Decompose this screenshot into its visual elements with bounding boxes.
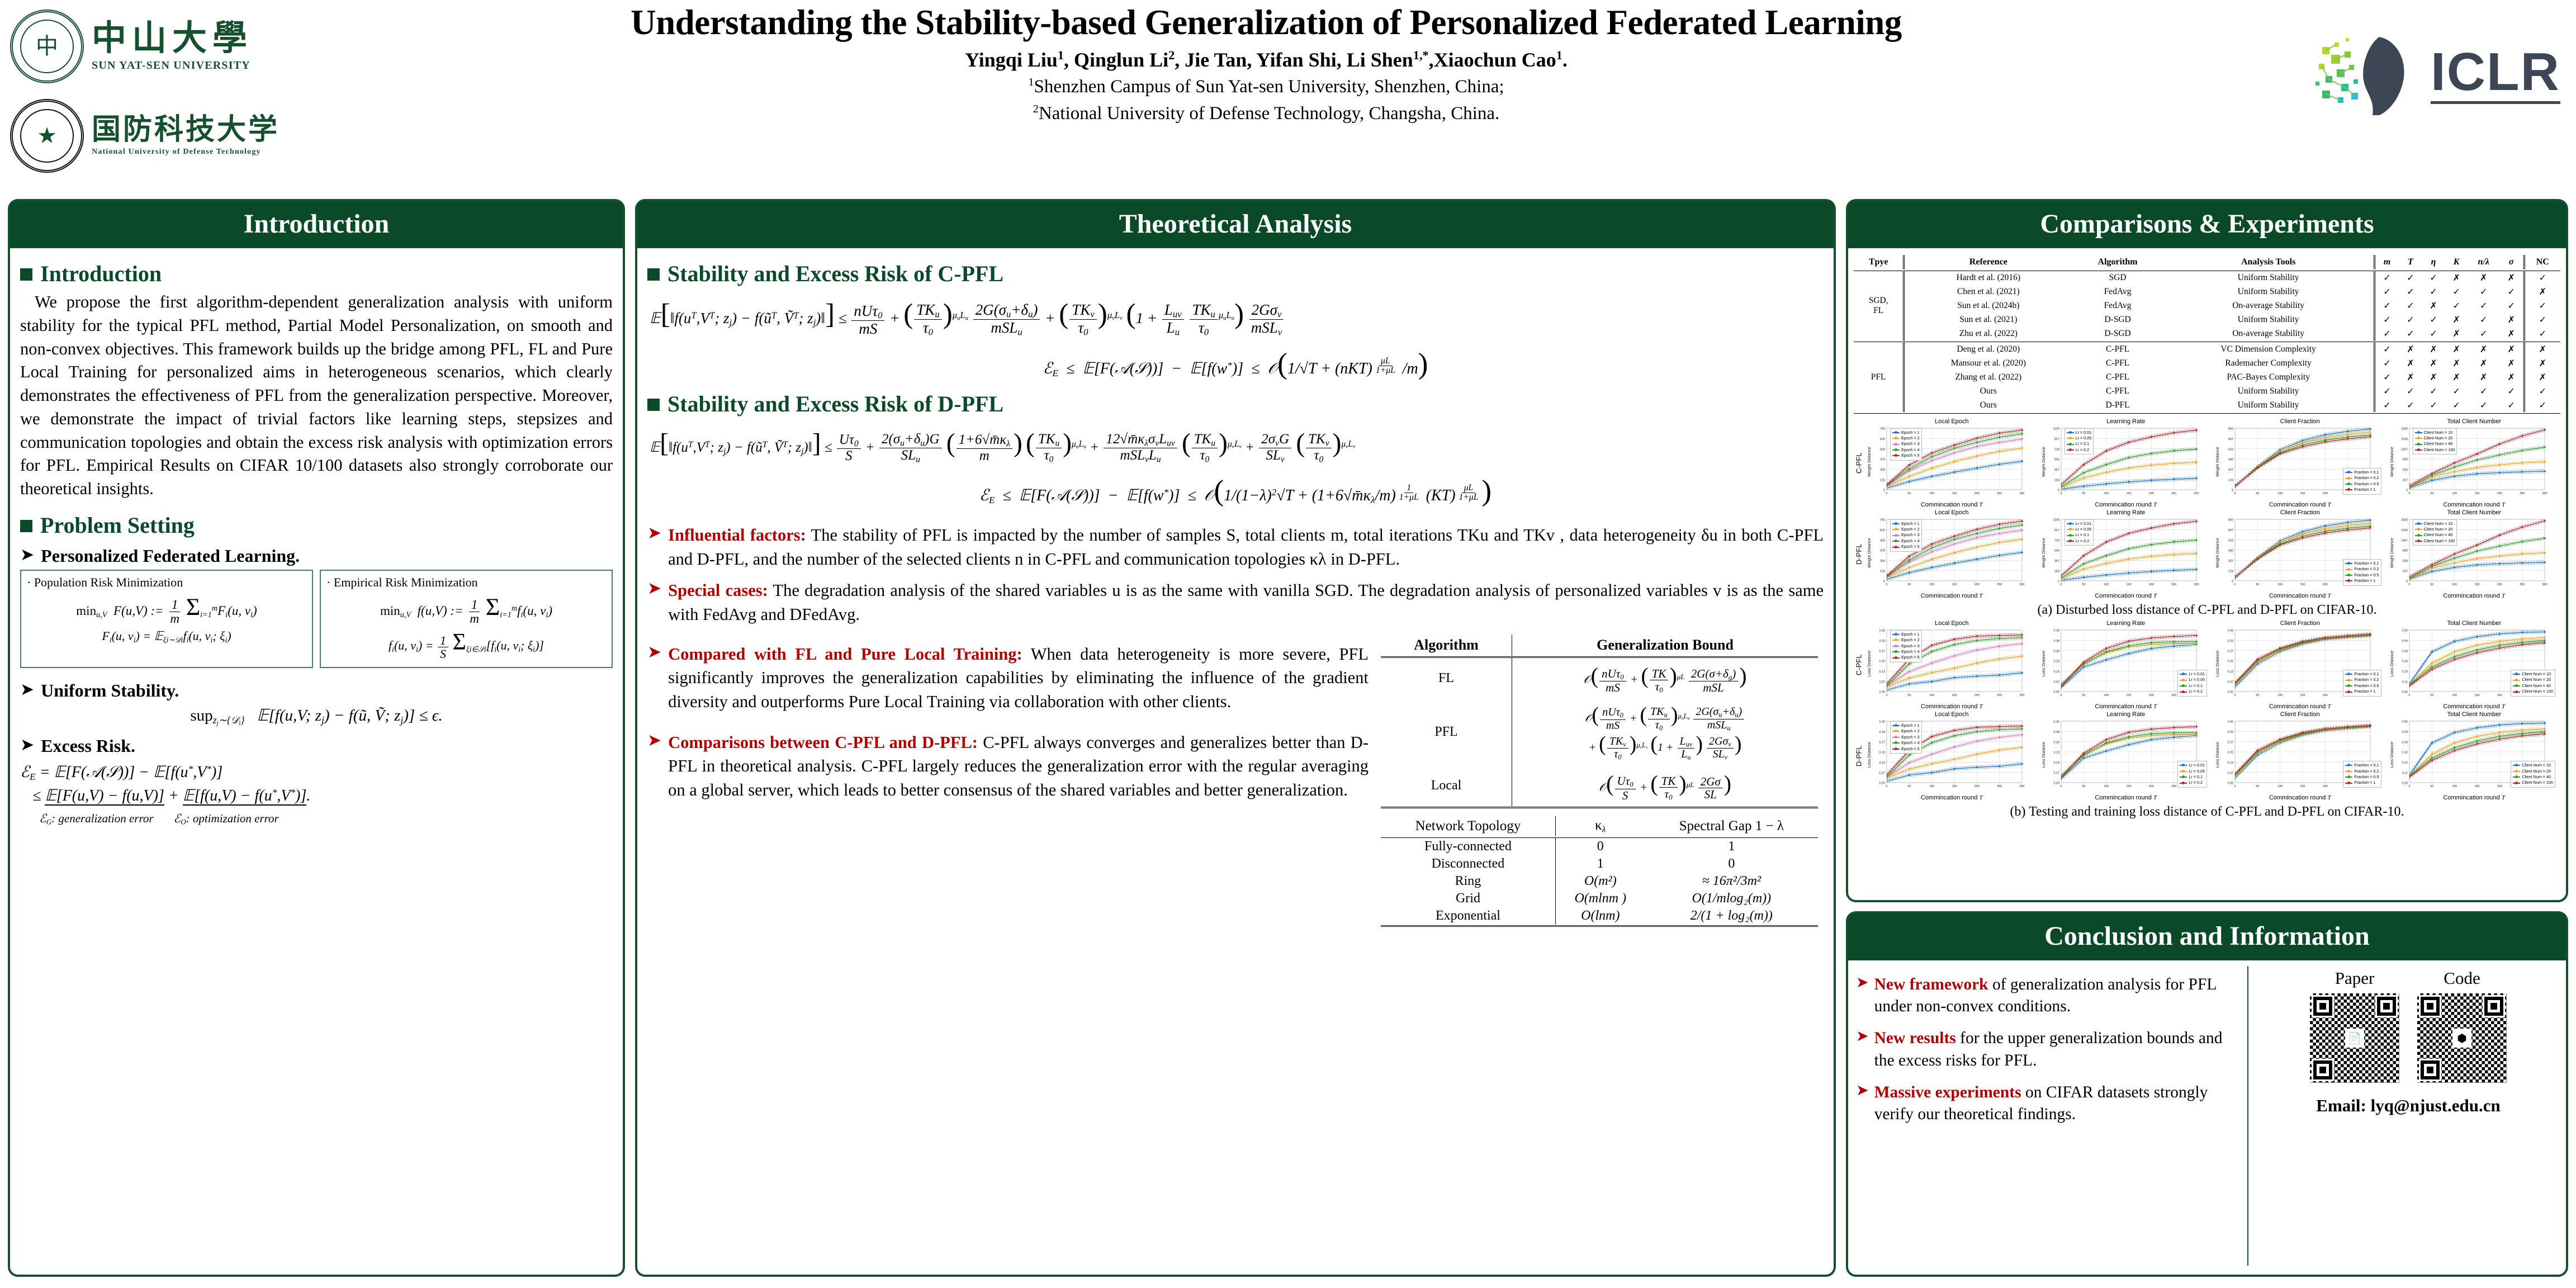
cell-mark-T: ✗ [2399,356,2422,370]
theory-lower-tables: Algorithm Generalization Bound FL 𝒪(nUτ0… [1381,634,1818,927]
svg-text:1600: 1600 [2401,518,2408,522]
legend-label: Fraction = 0.2 [2354,677,2379,683]
svg-text:Loss Distance: Loss Distance [2215,742,2220,768]
introduction-column-body: Introduction We propose the first algori… [10,248,623,834]
legend-item: Client Num = 10 [2415,521,2455,527]
cell-mark-n: ✗ [2468,356,2499,370]
legend-label: Fraction = 0.1 [2354,763,2379,768]
svg-text:0.33: 0.33 [1879,731,1886,734]
svg-text:0.40: 0.40 [2228,629,2234,632]
legend-label: Epoch = 2 [1901,728,1920,734]
svg-text:100: 100 [2104,583,2109,586]
legend-swatch [2180,776,2187,778]
legend-swatch [2180,692,2187,693]
svg-text:200: 200 [1974,785,1980,788]
logo-nudt: ★ 国防科技大学 National University of Defense … [10,94,345,178]
svg-text:0.15: 0.15 [2053,670,2059,674]
svg-text:200: 200 [2497,694,2502,697]
cell-algorithm-pfl: PFL [1381,698,1512,766]
svg-text:0.13: 0.13 [2228,670,2234,674]
svg-text:250: 250 [2520,492,2525,495]
th-K: K [2445,255,2468,269]
legend-item: Fraction = 0.2 [2345,769,2379,774]
section-dpfl-title: Stability and Excess Risk of D-PFL [667,392,1003,416]
plot-title: Learning Rate [2040,509,2213,516]
table-row: Fully-connected 0 1 [1381,837,1818,855]
theory-column-title: Theoretical Analysis [637,201,1834,248]
figure-b-plots-cpfl: Local Epoch0.000.070.130.200.270.330.400… [1865,620,2560,710]
cell-tools: Uniform Stability [2163,285,2374,299]
arrow-bullet-icon: ➤ [647,642,661,714]
svg-text:50: 50 [1907,583,1911,586]
legend-label: Client Num = 20 [2522,769,2551,774]
legend-swatch [1892,541,1900,542]
legend-label: Epoch = 5 [1901,453,1920,458]
poster-root: 中 中山大學 SUN YAT-SEN UNIVERSITY ★ 国防科技大学 N… [0,0,2576,1288]
cell-mark-sigma: ✗ [2499,271,2524,285]
legend-swatch [1892,731,1900,732]
plot-xlabel: Commincation round T [2388,593,2561,599]
legend-swatch [1892,444,1900,445]
legend-item: Fraction = 0.2 [2345,475,2379,481]
plot-learning-rate: Learning Rate018336755073391711000501001… [2040,418,2213,508]
cell-mark-eta: ✓ [2422,327,2445,341]
theory-lower-bullets: ➤ Compared with FL and Pure Local Traini… [647,634,1368,927]
legend-item: Epoch = 3 [1892,441,1920,447]
svg-text:267: 267 [2403,570,2408,573]
legend-item: Fraction = 0.2 [2345,677,2379,683]
svg-text:150: 150 [1952,785,1957,788]
svg-text:0.38: 0.38 [2053,731,2059,734]
legend-label: Fraction = 1 [2354,689,2375,694]
cell-mark-m: ✓ [2374,356,2399,370]
subsection-excess-risk: ➤ Excess Risk. [20,736,613,756]
cell-mark-sigma: ✗ [2499,370,2524,384]
nudt-seal-glyph: ★ [37,125,57,147]
plot-learning-rate: Learning Rate0.000.070.150.230.300.380.4… [2040,711,2213,801]
cell-bound-local: 𝒪(Uτ0S + (TKτ0)μL 2GσSL) [1512,766,1818,806]
legend-item: Fraction = 0.1 [2345,763,2379,768]
legend-label: Epoch = 1 [1901,430,1920,435]
bullet-compared-fl-local: ➤ Compared with FL and Pure Local Traini… [647,642,1368,714]
svg-text:917: 917 [2054,438,2059,441]
bullet-cpfl-vs-dpfl-text: Comparisons between C-PFL and D-PFL: C-P… [668,731,1368,802]
cell-mark-T: ✗ [2399,370,2422,384]
svg-text:Weight Distance: Weight Distance [2041,538,2046,568]
arrow-bullet-icon: ➤ [1856,1027,1869,1071]
plot-legend: Fraction = 0.1Fraction = 0.2Fraction = 0… [2343,559,2381,586]
th-analysis-tools: Analysis Tools [2163,255,2374,269]
svg-text:0.33: 0.33 [1879,640,1886,643]
figure-b-row-dpfl: D-PFL Local Epoch0.000.070.130.200.270.3… [1854,711,2560,801]
qr-code-code-icon[interactable]: ⬢ [2416,992,2508,1085]
legend-swatch [2345,472,2352,473]
svg-text:0: 0 [2060,492,2062,495]
cell-algorithm: D-PFL [2072,398,2163,412]
cell-mark-m: ✓ [2374,370,2399,384]
uniform-stability-formula: supzj∼{𝒟i} 𝔼[f(u,V; zj) − f(ũ, Ṽ; zj)] ≤… [20,705,613,727]
svg-text:0.40: 0.40 [2228,720,2234,723]
th-eta: η [2422,255,2445,269]
conclusion-bullet-2: ➤ New results for the upper generalizati… [1856,1027,2242,1071]
legend-item: Fraction = 1 [2345,487,2379,493]
svg-text:0.13: 0.13 [1879,761,1886,765]
title-block: Understanding the Stability-based Genera… [347,3,2186,126]
legend-label: Lr = 0.1 [2189,774,2203,780]
svg-text:750: 750 [1880,427,1885,430]
legend-label: Client Num = 100 [2424,447,2455,453]
cell-mark-sigma: ✓ [2499,299,2524,313]
svg-text:150: 150 [1952,694,1957,697]
cell-mark-sigma: ✗ [2499,356,2524,370]
svg-text:200: 200 [2149,583,2154,586]
svg-text:0.23: 0.23 [2053,660,2059,663]
cell-algorithm: C-PFL [2072,370,2163,384]
svg-text:250: 250 [1997,785,2002,788]
svg-text:250: 250 [1880,560,1885,563]
cell-topology-name: Grid [1381,890,1555,907]
iclr-logo: ICLR [2312,32,2560,116]
th-network-topology: Network Topology [1381,816,1555,836]
cell-reference: Mansour et al. (2020) [1904,356,2072,370]
svg-text:0.38: 0.38 [2053,640,2059,643]
figure-b-rowlabel-cpfl: C-PFL [1854,620,1864,710]
legend-label: Epoch = 2 [1901,435,1920,441]
legend-item: Epoch = 5 [1892,544,1920,550]
cell-mark-eta: ✓ [2422,285,2445,299]
table-row: FL 𝒪(nUτ0mS + (TKτ0)μL 2G(σ+δg)mSL) [1381,657,1818,698]
legend-label: Client Num = 100 [2522,689,2553,694]
cell-algorithm: C-PFL [2072,356,2163,370]
svg-text:125: 125 [1880,479,1885,482]
legend-item: Epoch = 2 [1892,527,1920,532]
experiments-column-header: Comparisons & Experiments [1848,201,2566,248]
arrow-bullet-icon: ➤ [647,523,661,571]
legend-swatch [2180,674,2187,675]
cell-reference: Sun et al. (2021) [1904,313,2072,327]
th-algorithm: Algorithm [1381,634,1512,656]
legend-item: Client Num = 10 [2513,763,2553,768]
svg-text:0.54: 0.54 [2402,640,2408,643]
svg-text:300: 300 [2542,492,2547,495]
svg-text:500: 500 [1880,539,1885,542]
cell-mark-K: ✓ [2445,384,2468,398]
th-n-lambda: n/λ [2468,255,2499,269]
figure-b: C-PFL Local Epoch0.000.070.130.200.270.3… [1854,620,2560,820]
table-row: Ours D-PFL Uniform Stability ✓ ✓ ✓ ✓ ✓ ✓… [1854,398,2560,412]
cell-mark-eta: ✓ [2422,398,2445,412]
plot-canvas: 0267533800106713331600050100150200250300… [2388,516,2548,590]
svg-text:550: 550 [2054,549,2059,552]
legend-item: Client Num = 20 [2415,527,2455,532]
cell-topology-name: Ring [1381,873,1555,890]
legend-item: Fraction = 0.5 [2345,774,2379,780]
svg-text:0: 0 [1883,489,1885,492]
legend-swatch [2513,692,2520,693]
cell-mark-n: ✓ [2468,285,2499,299]
plot-title: Client Fraction [2214,418,2386,425]
legend-swatch [2067,523,2074,524]
empirical-risk-caption: · Empirical Risk Minimization [326,575,606,590]
comparison-table: Tpye Reference Algorithm Analysis Tools … [1854,255,2560,414]
legend-label: Client Num = 10 [2522,671,2551,677]
svg-text:50: 50 [2082,492,2085,495]
plot-canvas: 01833675507339171100050100150200250300We… [2040,516,2200,590]
legend-item: Lr = 0.05 [2067,435,2092,441]
svg-text:0.20: 0.20 [1879,660,1886,663]
plot-learning-rate: Learning Rate018336755073391711000501001… [2040,509,2213,599]
qr-code-label: Code [2416,968,2508,988]
plot-legend: Client Num = 10Client Num = 20Client Num… [2413,519,2457,546]
svg-text:0.30: 0.30 [2053,650,2059,653]
contact-email[interactable]: Email: lyq@njust.edu.cn [2258,1096,2558,1116]
svg-text:100: 100 [1929,583,1934,586]
svg-text:0.45: 0.45 [2053,629,2059,632]
cell-algorithm: C-PFL [2072,342,2163,357]
th-bound: Generalization Bound [1512,634,1818,656]
legend-label: Lr = 0.05 [2076,527,2092,532]
legend-swatch [2345,771,2352,772]
svg-text:0: 0 [2234,694,2236,697]
experiments-column-title: Comparisons & Experiments [1848,201,2566,248]
cell-mark-eta: ✓ [2422,313,2445,327]
legend-item: Lr = 0.2 [2067,538,2092,544]
cell-mark-n: ✓ [2468,299,2499,313]
plot-local-epoch: Local Epoch0.000.070.130.200.270.330.400… [1865,620,2038,710]
cell-mark-nc: ✓ [2524,327,2560,341]
cell-mark-eta: ✗ [2422,342,2445,357]
figure-b-caption: (b) Testing and training loss distance o… [1854,804,2560,820]
svg-text:100: 100 [1929,492,1934,495]
figure-a-row-dpfl: D-PFL Local Epoch01252503755006257500501… [1854,509,2560,599]
th-nc: NC [2524,255,2560,269]
legend-label: Lr = 0.2 [2076,447,2090,453]
svg-text:Weight Distance: Weight Distance [2215,538,2220,568]
svg-text:0.20: 0.20 [1879,751,1886,754]
svg-text:100: 100 [1929,694,1934,697]
cell-algorithm: FedAvg [2072,285,2163,299]
cell-reference: Ours [1904,398,2072,412]
cell-tools: Rademacher Complexity [2163,356,2374,370]
legend-swatch [1892,737,1900,738]
introduction-column: Introduction Introduction We propose the… [8,199,625,1277]
bullet-influential-factors: ➤ Influential factors: The stability of … [647,523,1824,571]
svg-text:100: 100 [2452,785,2457,788]
plot-client-fraction: Client Fraction0.000.070.130.200.270.330… [2214,620,2386,710]
cell-bound-fl: 𝒪(nUτ0mS + (TKτ0)μL 2G(σ+δg)mSL) [1512,657,1818,698]
svg-text:0.43: 0.43 [2402,650,2408,653]
cell-mark-n: ✓ [2468,398,2499,412]
plot-legend: Client Num = 10Client Num = 20Client Num… [2511,670,2555,697]
cell-reference: Zhu et al. (2022) [1904,327,2072,341]
qr-paper-code-icon[interactable]: 📄 [2308,992,2401,1085]
legend-swatch [2067,432,2074,433]
table-row: Mansour et al. (2020) C-PFL Rademacher C… [1854,356,2560,370]
svg-text:0.00: 0.00 [2228,690,2234,694]
svg-text:200: 200 [2149,785,2154,788]
legend-swatch [2345,783,2352,784]
legend-item: Epoch = 3 [1892,532,1920,538]
subsection-pfl-title: Personalized Federated Learning. [41,546,300,566]
svg-text:0: 0 [2058,580,2059,583]
cpfl-excess-risk-formula: ℰE ≤ 𝔼[F(𝒜(𝒮))] − 𝔼[f(w*)] ≤ 𝒪(1/√T + (n… [647,342,1824,389]
plot-xlabel: Commincation round T [2040,703,2213,710]
svg-text:150: 150 [2474,583,2479,586]
svg-text:200: 200 [2497,492,2502,495]
svg-text:150: 150 [2300,785,2305,788]
svg-text:0.33: 0.33 [2228,640,2234,643]
svg-text:0.07: 0.07 [2228,680,2234,684]
plot-client-fraction: Client Fraction0133267400533667800050100… [2214,418,2386,508]
qr-paper-label: Paper [2308,968,2401,988]
legend-label: Epoch = 3 [1901,532,1920,538]
cell-algorithm: C-PFL [2072,384,2163,398]
plot-title: Local Epoch [1865,711,2038,718]
plot-title: Local Epoch [1865,620,2038,627]
legend-swatch [2513,776,2520,778]
cell-mark-nc: ✗ [2524,356,2560,370]
cell-mark-eta: ✓ [2422,384,2445,398]
legend-label: Fraction = 0.1 [2354,470,2379,475]
cell-algorithm-fl: FL [1381,657,1512,698]
svg-text:100: 100 [2277,785,2283,788]
svg-text:50: 50 [2430,785,2433,788]
legend-label: Client Num = 10 [2424,430,2453,435]
cell-mark-n: ✗ [2468,271,2499,285]
legend-swatch [2513,680,2520,681]
subsection-excess-risk-title: Excess Risk. [41,736,135,756]
legend-item: Fraction = 0.5 [2345,481,2379,487]
plot-legend: Lr = 0.01Lr = 0.05Lr = 0.1Lr = 0.2 [2064,428,2094,455]
conclusion-column-title: Conclusion and Information [1848,913,2566,960]
plot-canvas: 0.000.070.130.200.270.330.40050100150200… [1865,718,2025,792]
svg-text:667: 667 [2228,438,2233,441]
svg-text:Weight Distance: Weight Distance [2389,447,2394,477]
legend-label: Client Num = 40 [2522,774,2551,780]
svg-text:0.00: 0.00 [2402,782,2408,785]
plot-canvas: 0.000.070.150.230.300.380.45050100150200… [2040,627,2200,700]
legend-label: Lr = 0.2 [2189,780,2203,785]
legend-swatch [2345,580,2352,581]
svg-text:0.22: 0.22 [2402,670,2408,674]
plot-xlabel: Commincation round T [2040,501,2213,508]
svg-text:50: 50 [2256,785,2259,788]
plot-xlabel: Commincation round T [2214,703,2386,710]
sysu-name-en: SUN YAT-SEN UNIVERSITY [92,59,253,72]
legend-swatch [1892,646,1900,647]
svg-text:400: 400 [2228,549,2233,552]
svg-text:733: 733 [2054,448,2059,451]
svg-text:250: 250 [2171,492,2176,495]
svg-text:367: 367 [2054,560,2059,563]
svg-text:800: 800 [2228,518,2233,522]
svg-text:50: 50 [2256,694,2259,697]
legend-label: Epoch = 4 [1901,740,1920,746]
svg-text:200: 200 [2323,492,2328,495]
svg-text:800: 800 [2403,549,2408,552]
svg-text:100: 100 [2104,785,2109,788]
nudt-name-cn: 国防科技大学 [92,115,280,146]
conclusion-bullet-1: ➤ New framework of generalization analys… [1856,974,2242,1017]
legend-item: Fraction = 0.5 [2345,683,2379,689]
square-bullet-icon [20,268,32,281]
legend-swatch [2345,692,2352,693]
plot-legend: Epoch = 1Epoch = 2Epoch = 3Epoch = 4Epoc… [1890,721,1922,754]
svg-text:Weight Distance: Weight Distance [2389,538,2394,568]
cell-bound-pfl: 𝒪(nUτ0mS + (TKuτ0)μuLu 2G(σu+δu)mSLu + (… [1512,698,1818,766]
qr-paper-center-logo-icon: 📄 [2345,1029,2364,1048]
qr-paper[interactable]: Paper 📄 [2308,968,2401,1085]
legend-item: Lr = 0.05 [2180,769,2205,774]
legend-swatch [2415,535,2422,536]
plot-canvas: 0.000.070.130.200.270.330.40050100150200… [1865,627,2025,700]
svg-text:0.00: 0.00 [1879,690,1886,694]
svg-text:200: 200 [2323,694,2328,697]
legend-label: Fraction = 1 [2354,780,2375,785]
legend-swatch [2180,680,2187,681]
legend-label: Epoch = 2 [1901,527,1920,532]
svg-text:0: 0 [2408,492,2410,495]
svg-text:0.00: 0.00 [2053,782,2059,785]
cell-mark-nc: ✓ [2524,313,2560,327]
table-row: Chen et al. (2021) FedAvg Uniform Stabil… [1854,285,2560,299]
qr-code[interactable]: Code ⬢ [2416,968,2508,1085]
plot-legend: Epoch = 1Epoch = 2Epoch = 3Epoch = 4Epoc… [1890,630,1922,662]
svg-text:0.22: 0.22 [2402,761,2408,765]
legend-swatch [2415,523,2422,524]
svg-text:250: 250 [2171,583,2176,586]
svg-text:50: 50 [2430,583,2433,586]
legend-item: Lr = 0.2 [2180,689,2205,694]
figure-b-rowlabel-dpfl: D-PFL [1854,711,1864,801]
empirical-risk-formula: minu,V f(u,V) := 1m Σi=1mfi(u, vi) [326,593,606,626]
svg-text:150: 150 [1952,583,1957,586]
svg-text:375: 375 [1880,549,1885,552]
svg-text:0.33: 0.33 [2402,660,2408,663]
svg-text:0: 0 [2232,580,2233,583]
svg-text:0.13: 0.13 [1879,670,1886,674]
legend-label: Lr = 0.05 [2189,769,2205,774]
svg-text:50: 50 [2256,492,2259,495]
arrow-bullet-icon: ➤ [20,546,34,565]
arrow-bullet-icon: ➤ [1856,974,1869,1017]
cell-topology-kappa: 1 [1555,855,1645,873]
plot-xlabel: Commincation round T [2214,593,2386,599]
legend-item: Epoch = 1 [1892,430,1920,435]
legend-label: Epoch = 5 [1901,746,1920,752]
figure-b-plots-dpfl: Local Epoch0.000.070.130.200.270.330.400… [1865,711,2560,801]
svg-text:0.00: 0.00 [2053,690,2059,694]
legend-swatch [2180,765,2187,766]
legend-swatch [2180,685,2187,686]
arrow-bullet-icon: ➤ [647,731,661,802]
plot-xlabel: Commincation round T [1865,794,2038,801]
svg-text:150: 150 [2300,694,2305,697]
table-row: Sun et al. (2021) D-SGD Uniform Stabilit… [1854,313,2560,327]
legend-swatch [2415,432,2422,433]
cell-mark-sigma: ✗ [2499,342,2524,357]
svg-text:0: 0 [2234,583,2236,586]
legend-item: Epoch = 4 [1892,538,1920,544]
legend-label: Fraction = 0.5 [2354,481,2379,487]
cell-reference: Sun et al. (2024b) [1904,299,2072,313]
svg-text:250: 250 [2520,583,2525,586]
legend-swatch [1892,640,1900,641]
svg-text:0: 0 [2060,785,2062,788]
legend-swatch [2345,680,2352,681]
cell-mark-K: ✓ [2445,299,2468,313]
legend-label: Lr = 0.05 [2189,677,2205,683]
